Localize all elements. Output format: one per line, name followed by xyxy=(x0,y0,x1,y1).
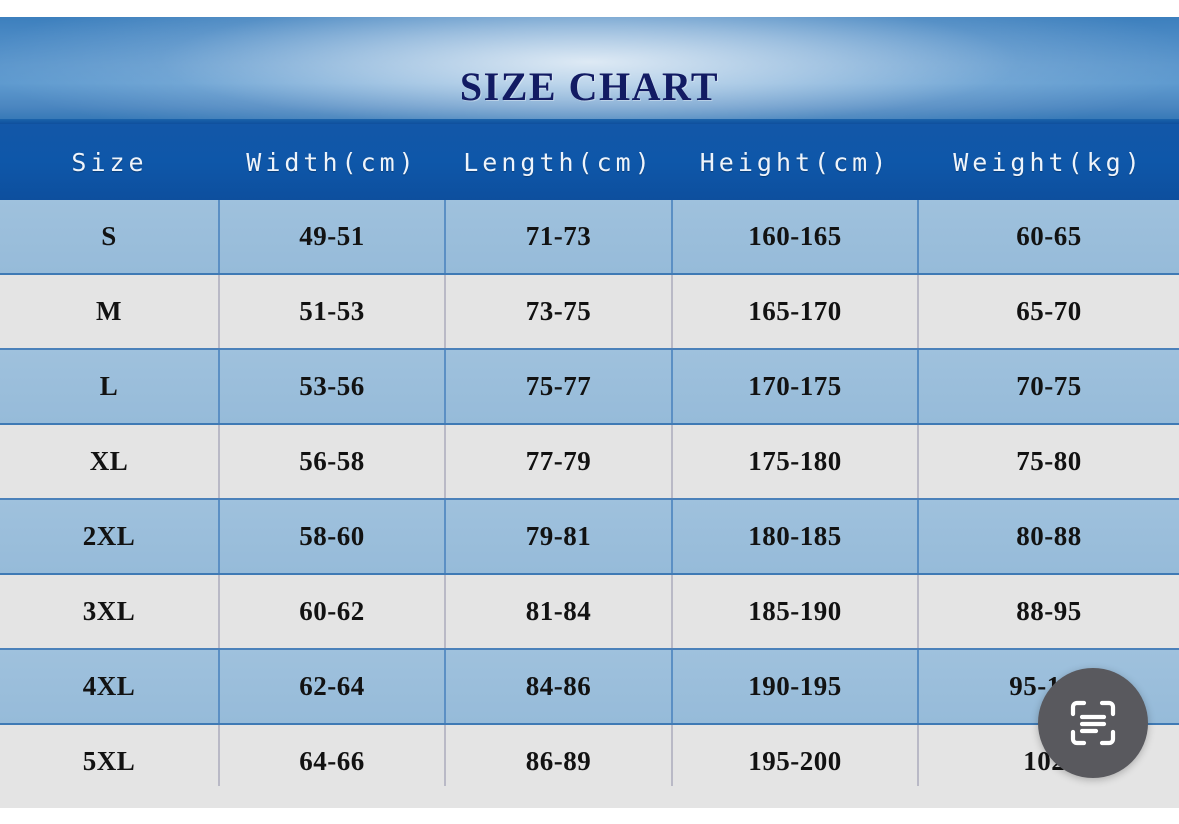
cell-height: 175-180 xyxy=(672,424,918,499)
cell-length: 73-75 xyxy=(445,274,672,349)
cell-weight: 70-75 xyxy=(918,349,1179,424)
cell-width: 56-58 xyxy=(219,424,445,499)
cell-height: 180-185 xyxy=(672,499,918,574)
cell-size: XL xyxy=(0,424,219,499)
page-title: SIZE CHART xyxy=(0,67,1179,107)
column-header-length: Length(cm) xyxy=(445,124,672,200)
size-table-container: Size Width(cm) Length(cm) Height(cm) Wei… xyxy=(0,124,1179,801)
table-row: M 51-53 73-75 165-170 65-70 xyxy=(0,274,1179,349)
cell-width: 53-56 xyxy=(219,349,445,424)
table-header: Size Width(cm) Length(cm) Height(cm) Wei… xyxy=(0,124,1179,200)
cell-size: 4XL xyxy=(0,649,219,724)
cell-size: 3XL xyxy=(0,574,219,649)
size-chart-page: SIZE CHART Size Width(cm) Length(cm) Hei… xyxy=(0,0,1179,824)
cell-height: 190-195 xyxy=(672,649,918,724)
cell-length: 84-86 xyxy=(445,649,672,724)
size-table: Size Width(cm) Length(cm) Height(cm) Wei… xyxy=(0,124,1179,801)
cell-length: 81-84 xyxy=(445,574,672,649)
table-row: 3XL 60-62 81-84 185-190 88-95 xyxy=(0,574,1179,649)
table-row: S 49-51 71-73 160-165 60-65 xyxy=(0,200,1179,274)
scan-text-icon xyxy=(1067,697,1119,749)
cell-width: 51-53 xyxy=(219,274,445,349)
cell-size: S xyxy=(0,200,219,274)
cell-weight: 75-80 xyxy=(918,424,1179,499)
table-row: L 53-56 75-77 170-175 70-75 xyxy=(0,349,1179,424)
table-row: XL 56-58 77-79 175-180 75-80 xyxy=(0,424,1179,499)
table-header-row: Size Width(cm) Length(cm) Height(cm) Wei… xyxy=(0,124,1179,200)
cell-width: 62-64 xyxy=(219,649,445,724)
scan-text-button[interactable] xyxy=(1038,668,1148,778)
cell-size: 2XL xyxy=(0,499,219,574)
cell-weight: 80-88 xyxy=(918,499,1179,574)
cell-height: 170-175 xyxy=(672,349,918,424)
cell-length: 77-79 xyxy=(445,424,672,499)
table-row: 4XL 62-64 84-86 190-195 95-102 xyxy=(0,649,1179,724)
cell-height: 160-165 xyxy=(672,200,918,274)
column-header-height: Height(cm) xyxy=(672,124,918,200)
cell-length: 75-77 xyxy=(445,349,672,424)
cell-size: L xyxy=(0,349,219,424)
cell-weight: 88-95 xyxy=(918,574,1179,649)
table-body: S 49-51 71-73 160-165 60-65 M 51-53 73-7… xyxy=(0,200,1179,800)
cell-width: 58-60 xyxy=(219,499,445,574)
cell-weight: 60-65 xyxy=(918,200,1179,274)
cell-width: 49-51 xyxy=(219,200,445,274)
cell-length: 71-73 xyxy=(445,200,672,274)
cell-height: 185-190 xyxy=(672,574,918,649)
column-header-weight: Weight(kg) xyxy=(918,124,1179,200)
cell-size: M xyxy=(0,274,219,349)
bottom-filler-strip xyxy=(0,786,1179,808)
column-header-width: Width(cm) xyxy=(219,124,445,200)
cell-width: 60-62 xyxy=(219,574,445,649)
table-row: 2XL 58-60 79-81 180-185 80-88 xyxy=(0,499,1179,574)
column-header-size: Size xyxy=(0,124,219,200)
cell-length: 79-81 xyxy=(445,499,672,574)
cell-weight: 65-70 xyxy=(918,274,1179,349)
title-banner: SIZE CHART xyxy=(0,17,1179,124)
cell-height: 165-170 xyxy=(672,274,918,349)
